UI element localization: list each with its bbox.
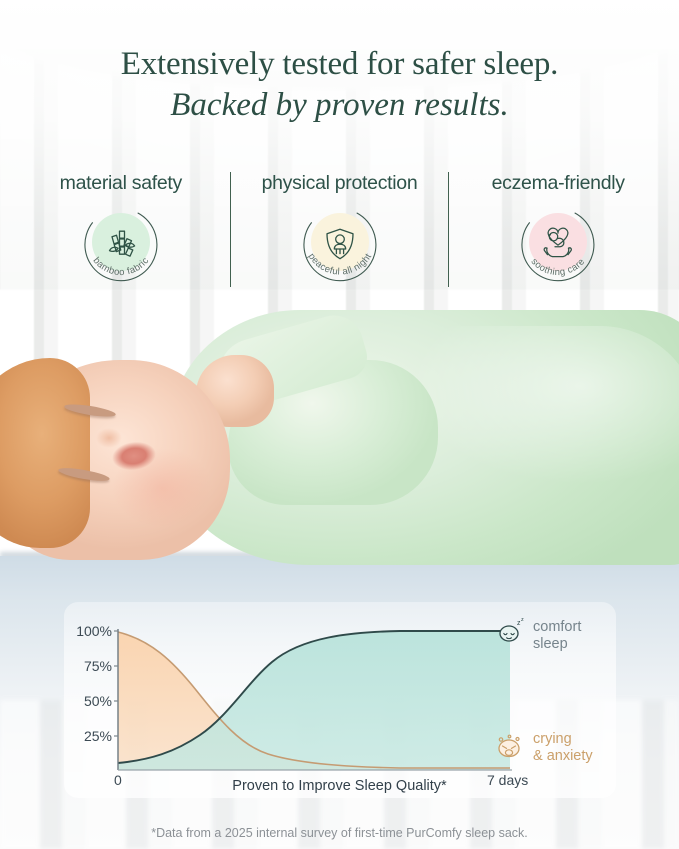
svg-text:z: z	[521, 617, 524, 623]
legend-crying-anxiety: crying & anxiety	[533, 731, 593, 765]
product-infographic: Extensively tested for safer sleep. Back…	[0, 0, 679, 849]
legend-crying-line-2: & anxiety	[533, 748, 593, 765]
y-tick-25: 25%	[68, 728, 112, 744]
sleeping-baby-icon: z z	[500, 617, 524, 641]
chart-title: Proven to Improve Sleep Quality*	[0, 778, 679, 794]
legend-crying-line-1: crying	[533, 731, 593, 748]
y-tick-50: 50%	[68, 693, 112, 709]
footnote: *Data from a 2025 internal survey of fir…	[0, 826, 679, 840]
sleep-quality-chart: z z	[0, 0, 679, 849]
legend-comfort-sleep: comfort sleep	[533, 619, 581, 653]
y-tick-100: 100%	[68, 623, 112, 639]
legend-comfort-line-1: comfort	[533, 619, 581, 636]
legend-comfort-line-2: sleep	[533, 636, 581, 653]
y-tick-75: 75%	[68, 658, 112, 674]
